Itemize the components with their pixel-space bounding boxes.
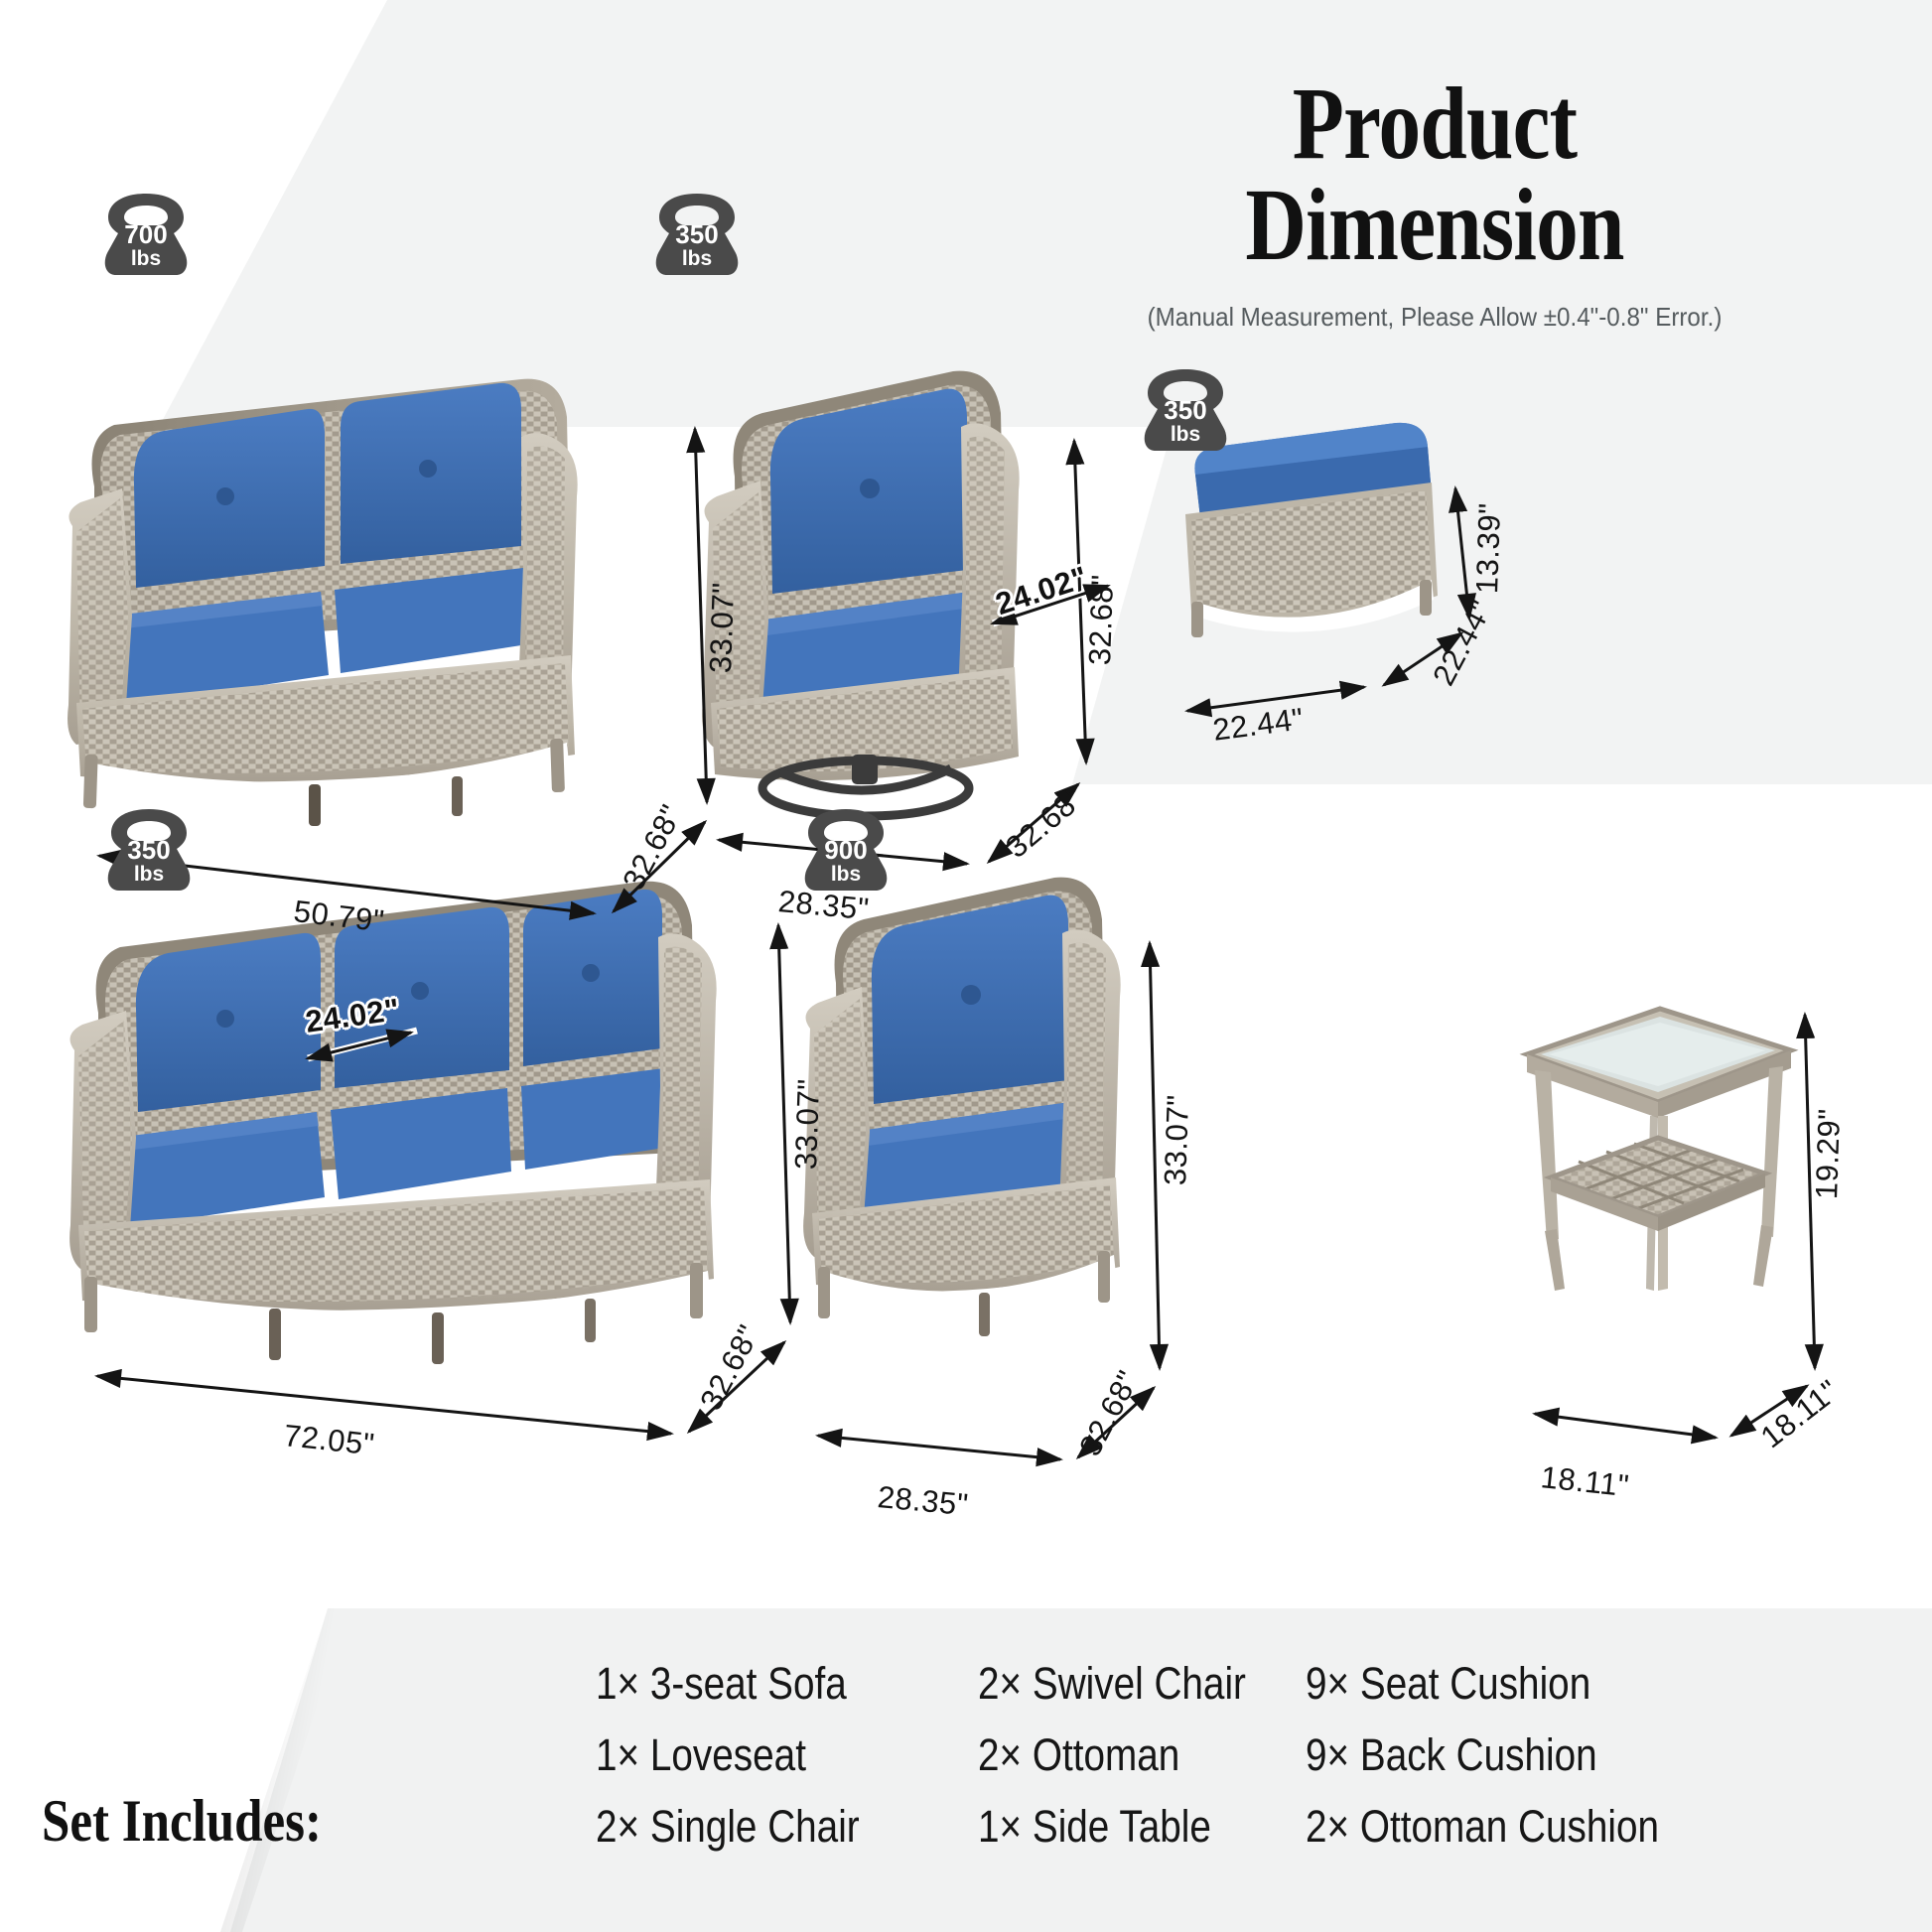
dim-three-seat-sofa-width: 72.05" xyxy=(282,1418,376,1462)
loveseat-illustration xyxy=(55,318,611,834)
weight-unit: lbs xyxy=(1134,424,1237,445)
weight-badge-single-chair: 900 lbs xyxy=(794,807,897,893)
dim-single-chair-width: 28.35" xyxy=(876,1479,969,1523)
dim-side-table-depth: 18.11" xyxy=(1754,1373,1847,1455)
side-table-illustration xyxy=(1509,993,1807,1330)
weight-unit: lbs xyxy=(794,864,897,885)
set-includes-item: 2× Ottoman xyxy=(978,1729,1260,1781)
dim-single-chair-depth: 32.68" xyxy=(1072,1365,1147,1462)
weight-badge-three-seat-sofa: 350 lbs xyxy=(97,807,201,893)
set-includes-item: 2× Single Chair xyxy=(596,1801,924,1853)
weight-value: 350 xyxy=(1134,397,1237,423)
set-includes-item: 1× Loveseat xyxy=(596,1729,924,1781)
weight-value: 350 xyxy=(645,221,749,247)
weight-badge-ottoman: 350 lbs xyxy=(1134,367,1237,453)
weight-value: 900 xyxy=(794,837,897,863)
weight-badge-swivel-chair: 350 lbs xyxy=(645,192,749,277)
page-title-line-1: Product xyxy=(1039,73,1829,175)
measurement-disclaimer: (Manual Measurement, Please Allow ±0.4"-… xyxy=(987,302,1882,333)
weight-value: 350 xyxy=(97,837,201,863)
weight-badge-loveseat: 700 lbs xyxy=(94,192,198,277)
set-includes-item: 1× Side Table xyxy=(978,1801,1260,1853)
page-title-line-2: Dimension xyxy=(1039,175,1829,276)
set-includes-item: 9× Back Cushion xyxy=(1306,1729,1840,1781)
dim-loveseat-height: 33.07" xyxy=(703,582,742,674)
set-includes-list: 1× 3-seat Sofa 2× Swivel Chair 9× Seat C… xyxy=(596,1648,1926,1863)
set-includes-item: 2× Swivel Chair xyxy=(978,1658,1260,1710)
ottoman-illustration xyxy=(1162,417,1459,685)
set-includes-item: 9× Seat Cushion xyxy=(1306,1658,1840,1710)
weight-unit: lbs xyxy=(94,248,198,269)
three-seat-sofa-illustration xyxy=(55,834,730,1370)
weight-value: 700 xyxy=(94,221,198,247)
dim-side-table-height: 19.29" xyxy=(1809,1108,1848,1200)
dim-single-chair-height: 33.07" xyxy=(1158,1094,1196,1186)
weight-unit: lbs xyxy=(97,864,201,885)
page-header: Product Dimension (Manual Measurement, P… xyxy=(953,73,1916,333)
set-includes-item: 1× 3-seat Sofa xyxy=(596,1658,924,1710)
dim-three-seat-sofa-height: 33.07" xyxy=(788,1078,827,1171)
dim-ottoman-height: 13.39" xyxy=(1469,502,1508,595)
set-includes-item: 2× Ottoman Cushion xyxy=(1306,1801,1840,1853)
set-includes-heading: Set Includes: xyxy=(42,1787,322,1856)
swivel-chair-illustration xyxy=(685,328,1042,834)
weight-unit: lbs xyxy=(645,248,749,269)
dim-side-table-width: 18.11" xyxy=(1539,1459,1631,1504)
